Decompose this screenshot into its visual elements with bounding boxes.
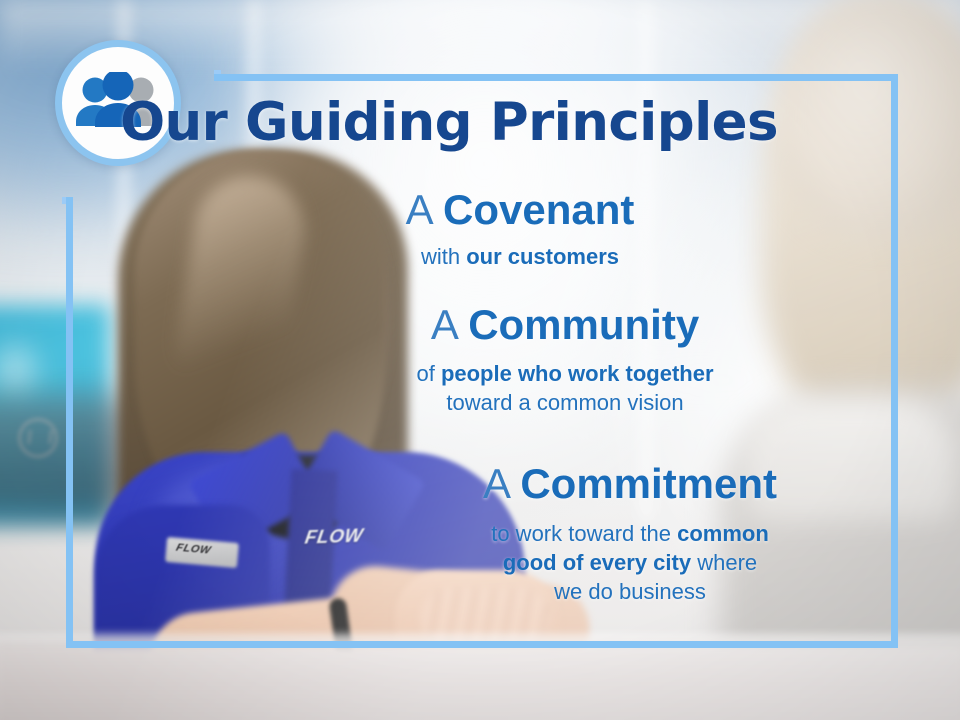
text-content: Our Guiding Principles A Covenant with o… bbox=[0, 0, 960, 720]
emphasis-text: common bbox=[677, 521, 769, 546]
emphasis-text: people who work together bbox=[441, 361, 714, 386]
principle-headline: A Community bbox=[340, 303, 790, 348]
principle-subtext-line: with our customers bbox=[295, 242, 745, 271]
principle-covenant: A Covenant with our customers bbox=[295, 188, 745, 271]
emphasis-text: good of every city bbox=[503, 550, 691, 575]
principle-subtext: to work toward the commongood of every c… bbox=[400, 519, 860, 606]
plain-text: of bbox=[416, 361, 440, 386]
plain-text: toward a common vision bbox=[446, 390, 683, 415]
principle-headline: A Covenant bbox=[295, 188, 745, 233]
guiding-principles-graphic: FLOW FLOW Our Gui bbox=[0, 0, 960, 720]
plain-text: to work toward the bbox=[491, 521, 677, 546]
principle-subtext-line: we do business bbox=[400, 577, 860, 606]
principle-subtext-line: good of every city where bbox=[400, 548, 860, 577]
principle-headline: A Commitment bbox=[400, 462, 860, 507]
principle-article: A bbox=[406, 186, 443, 233]
principle-keyword: Covenant bbox=[443, 186, 634, 233]
principle-community: A Community of people who work togethert… bbox=[340, 303, 790, 417]
principle-subtext: with our customers bbox=[295, 242, 745, 271]
principle-subtext-line: toward a common vision bbox=[340, 388, 790, 417]
principle-keyword: Commitment bbox=[520, 460, 777, 507]
principle-subtext-line: of people who work together bbox=[340, 359, 790, 388]
plain-text: with bbox=[421, 244, 466, 269]
emphasis-text: our customers bbox=[466, 244, 619, 269]
plain-text: where bbox=[691, 550, 757, 575]
principle-article: A bbox=[483, 460, 520, 507]
principle-article: A bbox=[431, 301, 468, 348]
principle-keyword: Community bbox=[468, 301, 699, 348]
principle-commitment: A Commitment to work toward the commongo… bbox=[400, 462, 860, 606]
principle-subtext: of people who work togethertoward a comm… bbox=[340, 359, 790, 417]
principle-subtext-line: to work toward the common bbox=[400, 519, 860, 548]
page-title: Our Guiding Principles bbox=[0, 96, 898, 149]
plain-text: we do business bbox=[554, 579, 706, 604]
